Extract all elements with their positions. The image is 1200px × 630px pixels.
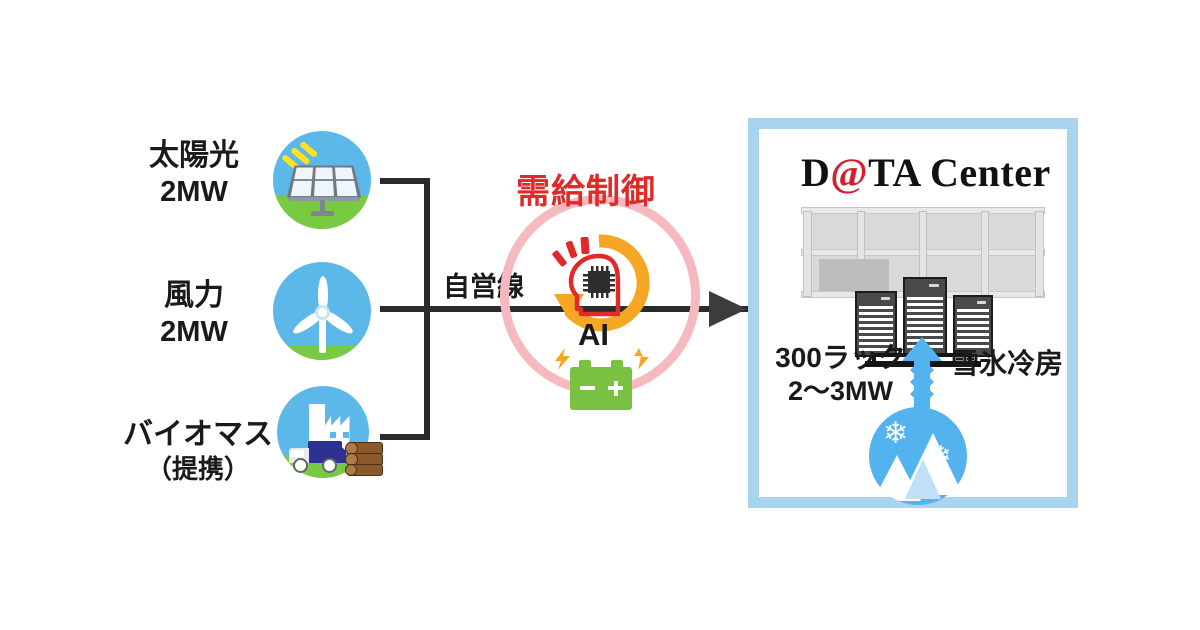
source-label-solar: 太陽光 2MW [128, 138, 260, 210]
datacenter-panel: D@TA Center [748, 118, 1078, 508]
source-label-biomass: バイオマス （提携） [118, 417, 278, 485]
datacenter-capacity-label: 300ラック 2〜3MW [773, 341, 908, 408]
dc-title-after: TA Center [868, 150, 1051, 195]
source-label-wind: 風力 2MW [130, 278, 258, 350]
source-name-biomass: バイオマス [118, 417, 278, 452]
feed-arrowhead-icon [709, 291, 747, 327]
snowflake-left-icon: ❄ [883, 419, 908, 449]
battery-plus [614, 381, 618, 396]
snowflake-right-icon: ❄ [930, 442, 952, 468]
solar-panel-icon [273, 131, 371, 229]
wind-turbine-icon [273, 262, 371, 360]
capacity-power: 2〜3MW [773, 376, 908, 408]
ai-label: AI [578, 317, 609, 354]
up-arrow-icon [901, 337, 943, 414]
snow-mountain-icon: ❄ ❄ [869, 407, 967, 505]
source-capacity-biomass: （提携） [118, 454, 278, 485]
cooling-label: 雪氷冷房 [951, 347, 1063, 380]
source-capacity-solar: 2MW [128, 175, 260, 209]
control-heading: 需給制御 [516, 172, 656, 212]
source-capacity-wind: 2MW [130, 315, 258, 349]
dc-title-at-symbol: @ [830, 150, 868, 195]
wire-solar [380, 178, 430, 184]
battery-icon [570, 360, 632, 410]
datacenter-title: D@TA Center [801, 149, 1051, 196]
wire-wind [380, 306, 430, 312]
dc-title-before: D [801, 150, 830, 195]
bolt-right-icon [632, 348, 650, 375]
biomass-plant-icon [273, 386, 385, 486]
diagram-canvas: 太陽光 2MW 風力 2MW バイオマス （提携） [0, 0, 1200, 630]
capacity-racks: 300ラック [773, 341, 908, 374]
battery-minus [580, 386, 595, 390]
ai-head-chip-icon [566, 253, 632, 317]
source-name-solar: 太陽光 [128, 138, 260, 173]
wire-biomass [380, 434, 430, 440]
source-name-wind: 風力 [130, 278, 258, 313]
